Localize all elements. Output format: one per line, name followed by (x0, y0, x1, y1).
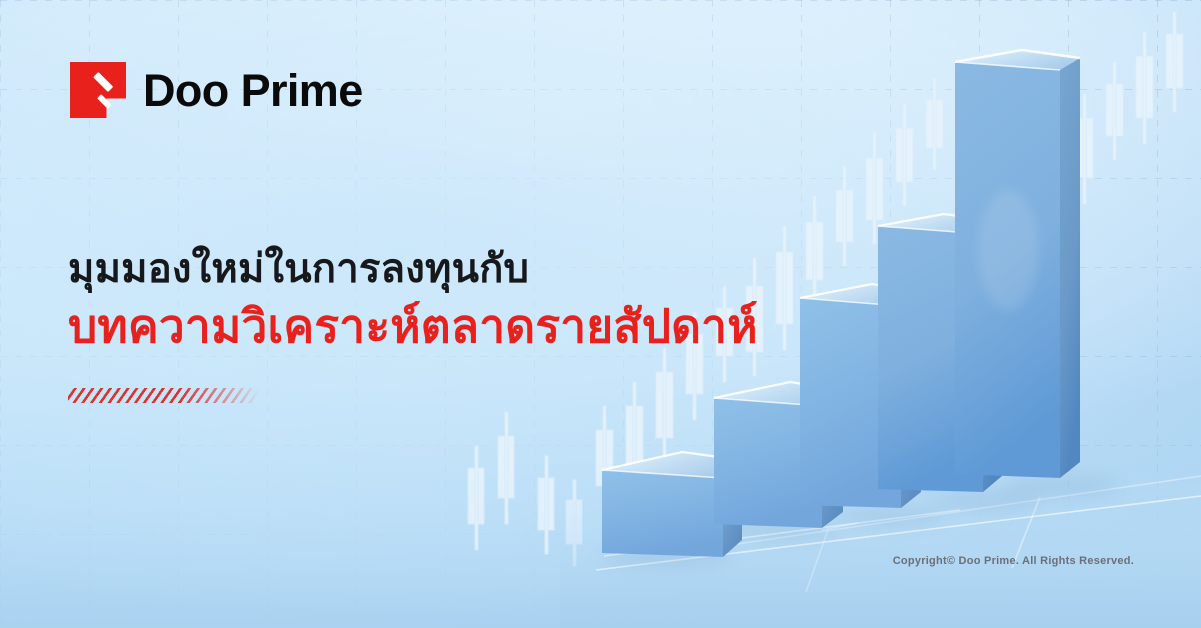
doo-prime-logo-icon (70, 62, 126, 118)
headline-line-2: บทความวิเคราะห์ตลาดรายสัปดาห์ (68, 299, 828, 353)
headline-hatch-underline (68, 388, 260, 403)
brand-logo[interactable]: Doo Prime (70, 62, 363, 118)
brand-name: Doo Prime (143, 68, 363, 113)
copyright-text: Copyright© Doo Prime. All Rights Reserve… (893, 555, 1134, 567)
headline-line-1: มุมมองใหม่ในการลงทุนกับ (68, 246, 828, 293)
banner-root: Doo Prime มุมมองใหม่ในการลงทุนกับ บทความ… (0, 0, 1201, 628)
headline-block: มุมมองใหม่ในการลงทุนกับ บทความวิเคราะห์ต… (68, 246, 828, 353)
